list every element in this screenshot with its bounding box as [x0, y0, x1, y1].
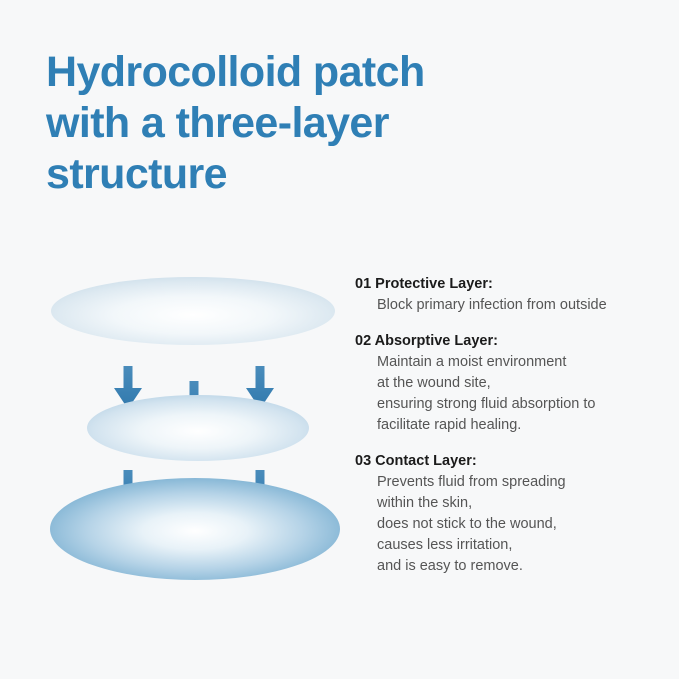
page-title: Hydrocolloid patch with a three-layer st…: [46, 47, 566, 200]
layer-name: Protective Layer:: [375, 276, 493, 292]
layer-number: 01: [355, 276, 371, 292]
arrow-down-icon: [180, 485, 208, 528]
layer-description-list: 01 Protective Layer: Block primary infec…: [355, 273, 655, 591]
arrows-to-contact-layer: [114, 470, 274, 528]
layer-description-absorptive: Maintain a moist environment at the woun…: [377, 352, 655, 436]
arrow-down-icon: [246, 470, 274, 513]
description-line: Maintain a moist environment: [377, 352, 655, 373]
description-line: does not stick to the wound,: [377, 514, 655, 535]
absorptive-layer-ellipse: [87, 395, 309, 461]
layer-number: 03: [355, 453, 371, 469]
contact-layer-ellipse: [50, 478, 340, 580]
description-line: facilitate rapid healing.: [377, 415, 655, 436]
description-line: Prevents fluid from spreading: [377, 472, 655, 493]
layer-heading-absorptive: 02 Absorptive Layer:: [355, 330, 655, 352]
arrow-down-icon: [114, 470, 142, 513]
description-line: ensuring strong fluid absorption to: [377, 394, 655, 415]
layer-description-contact: Prevents fluid from spreading within the…: [377, 472, 655, 577]
description-line: within the skin,: [377, 493, 655, 514]
arrow-down-icon: [180, 381, 208, 424]
description-line: causes less irritation,: [377, 535, 655, 556]
layer-item-contact: 03 Contact Layer: Prevents fluid from sp…: [355, 450, 655, 577]
title-line-2: with a three-layer: [46, 98, 566, 149]
layer-item-protective: 01 Protective Layer: Block primary infec…: [355, 273, 655, 316]
arrow-down-icon: [246, 366, 274, 409]
layer-description-protective: Block primary infection from outside: [377, 295, 655, 316]
layer-heading-protective: 01 Protective Layer:: [355, 273, 655, 295]
title-line-3: structure: [46, 149, 566, 200]
arrows-to-absorptive-layer: [114, 366, 274, 424]
title-line-1: Hydrocolloid patch: [46, 47, 566, 98]
layer-name: Contact Layer:: [375, 453, 477, 469]
description-line: Block primary infection from outside: [377, 295, 655, 316]
layer-name: Absorptive Layer:: [375, 333, 498, 349]
layer-number: 02: [355, 333, 371, 349]
description-line: and is easy to remove.: [377, 556, 655, 577]
protective-layer-ellipse: [51, 277, 335, 345]
arrow-down-icon: [114, 366, 142, 409]
layer-heading-contact: 03 Contact Layer:: [355, 450, 655, 472]
description-line: at the wound site,: [377, 373, 655, 394]
layer-item-absorptive: 02 Absorptive Layer: Maintain a moist en…: [355, 330, 655, 436]
